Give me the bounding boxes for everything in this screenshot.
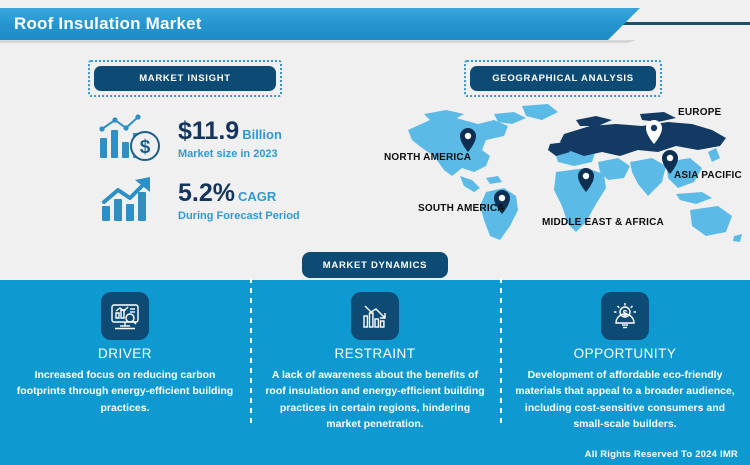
geographical-analysis-pill-frame: GEOGRAPHICAL ANALYSIS bbox=[464, 60, 662, 97]
stat-market-size: $ $11.9Billion Market size in 2023 bbox=[96, 112, 282, 164]
bar-chart-dollar-icon: $ bbox=[96, 112, 166, 164]
svg-text:$: $ bbox=[623, 309, 628, 318]
lightbulb-dollar-icon: $ bbox=[601, 292, 649, 340]
market-insight-label: MARKET INSIGHT bbox=[139, 73, 231, 84]
stat-cagr-unit: CAGR bbox=[238, 189, 276, 204]
market-dynamics-cards: DRIVER Increased focus on reducing carbo… bbox=[0, 280, 750, 465]
map-label-south-america: SOUTH AMERICA bbox=[418, 203, 505, 214]
dynamics-card-driver: DRIVER Increased focus on reducing carbo… bbox=[0, 280, 250, 465]
stat-cagr-caption: During Forecast Period bbox=[178, 210, 300, 222]
geographical-analysis-pill[interactable]: GEOGRAPHICAL ANALYSIS bbox=[470, 66, 656, 91]
svg-text:$: $ bbox=[140, 137, 151, 158]
market-dynamics-label: MARKET DYNAMICS bbox=[323, 260, 427, 271]
stat-market-size-value: $11.9 bbox=[178, 117, 239, 145]
stat-market-size-unit: Billion bbox=[242, 127, 282, 142]
map-label-europe: EUROPE bbox=[678, 107, 721, 118]
growth-arrow-icon bbox=[96, 174, 166, 226]
stat-market-size-caption: Market size in 2023 bbox=[178, 148, 282, 160]
dynamics-card-restraint: RESTRAINT A lack of awareness about the … bbox=[250, 280, 500, 465]
map-label-asia-pacific: ASIA PACIFIC bbox=[674, 170, 742, 181]
dynamics-card-restraint-title: RESTRAINT bbox=[334, 346, 415, 361]
market-dynamics-pill[interactable]: MARKET DYNAMICS bbox=[302, 252, 448, 278]
declining-chart-icon bbox=[351, 292, 399, 340]
stat-market-size-text: $11.9Billion Market size in 2023 bbox=[178, 116, 282, 159]
market-dynamics-pill-wrap: MARKET DYNAMICS bbox=[302, 252, 448, 278]
map-label-north-america: NORTH AMERICA bbox=[384, 152, 471, 163]
market-insight-pill[interactable]: MARKET INSIGHT bbox=[94, 66, 276, 91]
stat-cagr: 5.2%CAGR During Forecast Period bbox=[96, 174, 300, 226]
footer: All Rights Reserved To 2024 IMR bbox=[0, 443, 750, 465]
dynamics-card-opportunity-title: OPPORTUNITY bbox=[574, 346, 677, 361]
dynamics-card-opportunity-body: Development of affordable eco-friendly m… bbox=[514, 367, 736, 432]
stat-market-size-value-row: $11.9Billion bbox=[178, 118, 282, 144]
dynamics-card-driver-body: Increased focus on reducing carbon footp… bbox=[14, 367, 236, 416]
header-banner-shadow bbox=[0, 40, 636, 43]
header: Roof Insulation Market bbox=[0, 8, 750, 40]
dynamics-card-restraint-body: A lack of awareness about the benefits o… bbox=[264, 367, 486, 432]
stat-cagr-value-row: 5.2%CAGR bbox=[178, 180, 300, 206]
dynamics-card-driver-title: DRIVER bbox=[98, 346, 152, 361]
page-title: Roof Insulation Market bbox=[0, 14, 202, 34]
stat-cagr-text: 5.2%CAGR During Forecast Period bbox=[178, 178, 300, 221]
stat-cagr-value: 5.2% bbox=[178, 179, 235, 207]
dynamics-card-opportunity: $ OPPORTUNITY Development of affordable … bbox=[500, 280, 750, 465]
footer-copyright: All Rights Reserved To 2024 IMR bbox=[585, 449, 738, 460]
map-label-middle-east-africa: MIDDLE EAST & AFRICA bbox=[542, 217, 664, 228]
monitor-analytics-icon bbox=[101, 292, 149, 340]
geographical-analysis-label: GEOGRAPHICAL ANALYSIS bbox=[492, 73, 634, 84]
header-banner: Roof Insulation Market bbox=[0, 8, 640, 40]
market-insight-pill-frame: MARKET INSIGHT bbox=[88, 60, 282, 97]
